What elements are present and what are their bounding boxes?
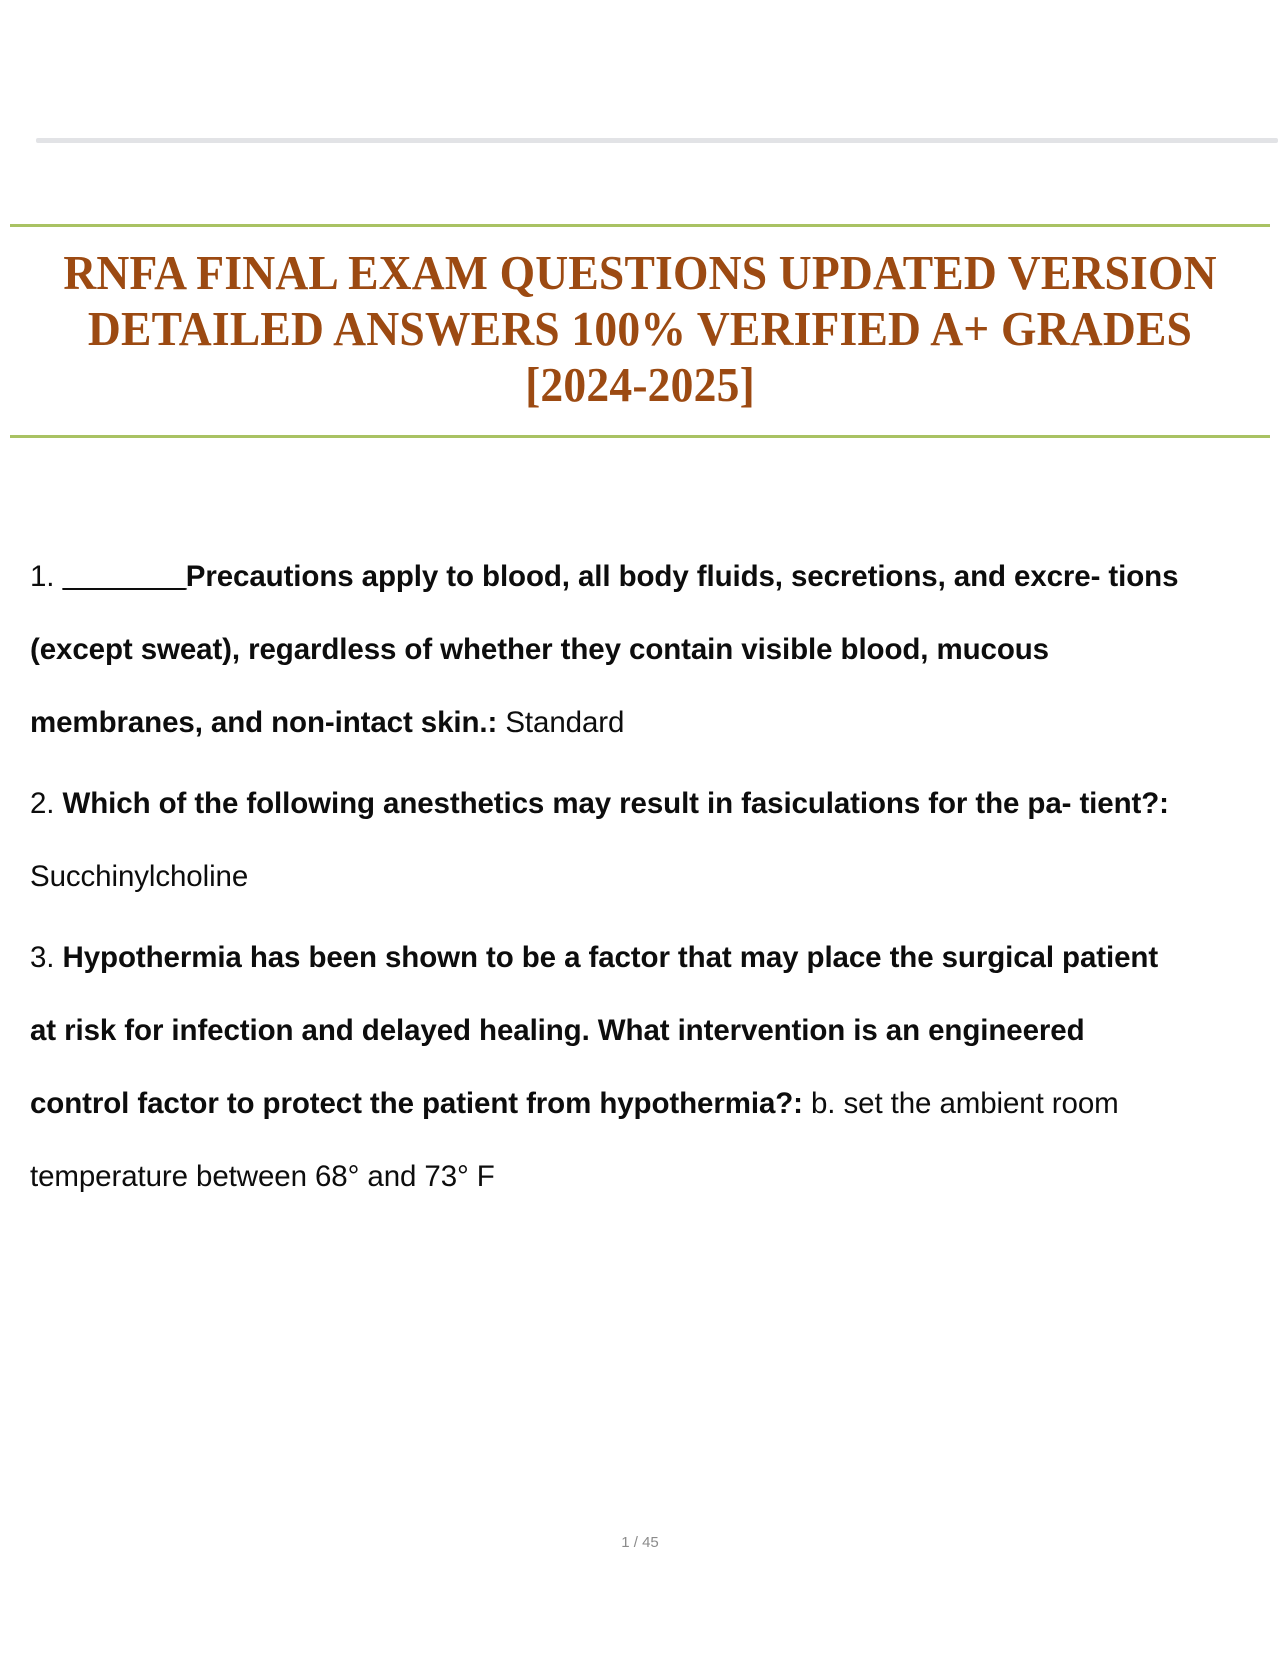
question-number-3: 3. [30, 941, 54, 974]
answer-blank-1: ________ [63, 560, 186, 593]
qa-item-1: 1. ________Precautions apply to blood, a… [30, 540, 1190, 759]
header-divider [36, 138, 1278, 143]
question-list: 1. ________Precautions apply to blood, a… [30, 540, 1190, 1221]
qa-item-3: 3. Hypothermia has been shown to be a fa… [30, 921, 1190, 1213]
question-answer-2: Succhinylcholine [30, 860, 248, 893]
question-answer-1: Standard [497, 706, 624, 739]
title-block: RNFA FINAL EXAM QUESTIONS UPDATED VERSIO… [10, 224, 1270, 438]
qa-item-2: 2. Which of the following anesthetics ma… [30, 767, 1190, 913]
question-number-1: 1. [30, 560, 54, 593]
question-prompt-2: Which of the following anesthetics may r… [63, 787, 1169, 820]
page-indicator: 1 / 45 [0, 1534, 1280, 1551]
question-number-2: 2. [30, 787, 54, 820]
document-page: RNFA FINAL EXAM QUESTIONS UPDATED VERSIO… [0, 0, 1280, 1656]
page-title: RNFA FINAL EXAM QUESTIONS UPDATED VERSIO… [54, 245, 1226, 413]
